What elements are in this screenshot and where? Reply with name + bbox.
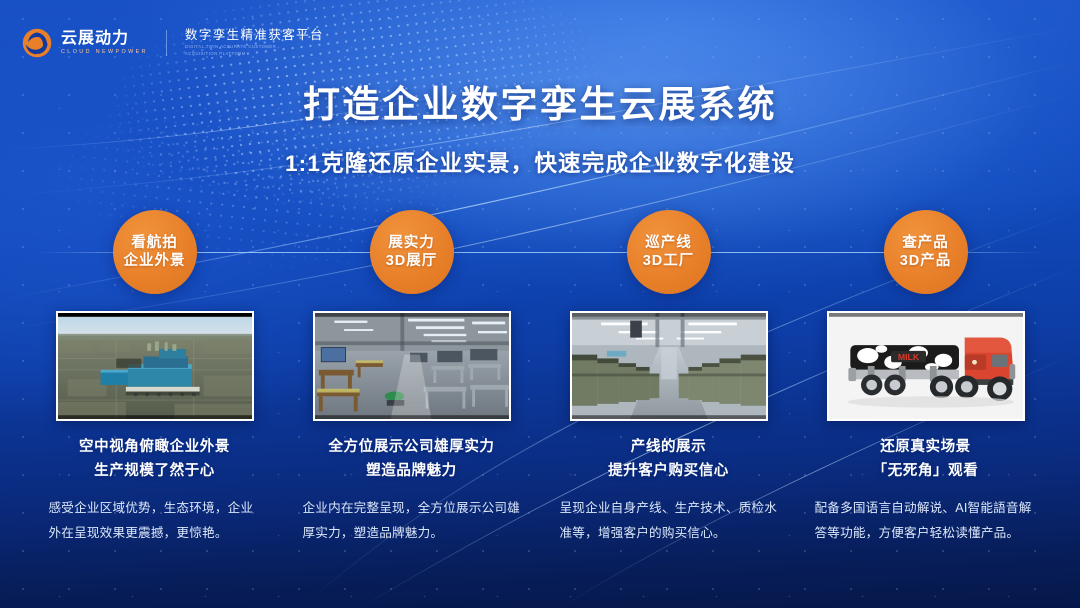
heading-line-2: 提升客户购买信心 — [608, 464, 729, 479]
brand-logo-bar[interactable]: 云展动力 CLOUD NEWPOWER 数字孪生精准获客平台 DIGITAL T… — [22, 28, 324, 58]
badge-line-1: 看航拍 — [131, 236, 178, 251]
aerial-factory-thumbnail[interactable] — [56, 311, 254, 421]
brand-tagline-group: 数字孪生精准获客平台 DIGITAL TWIN ACCURATE CUSTOME… — [185, 29, 324, 57]
badge-line-2: 3D工厂 — [643, 254, 695, 269]
badge-line-2: 企业外景 — [124, 254, 186, 269]
column-body-text: 企业内在完整呈现，全方位展示公司雄厚实力，塑造品牌魅力。 — [303, 496, 521, 546]
badge-line-1: 巡产线 — [645, 236, 692, 251]
badge-production-line[interactable]: 巡产线 3D工厂 — [627, 210, 711, 294]
brand-tagline-en: DIGITAL TWIN ACCURATE CUSTOMER ACQUISITI… — [185, 44, 303, 57]
slide-canvas: 云展动力 CLOUD NEWPOWER 数字孪生精准获客平台 DIGITAL T… — [0, 0, 1080, 608]
heading-line-1: 全方位展示公司雄厚实力 — [328, 440, 494, 455]
column-heading: 还原真实场景 「无死角」观看 — [873, 440, 979, 478]
logo-divider — [166, 30, 167, 56]
page-subtitle: 1:1克隆还原企业实景，快速完成企业数字化建设 — [0, 146, 1080, 178]
column-heading: 全方位展示公司雄厚实力 塑造品牌魅力 — [328, 440, 494, 478]
showroom-interior-thumbnail[interactable] — [313, 311, 511, 421]
heading-line-2: 生产规模了然于心 — [79, 464, 230, 479]
page-title-reflection: 打造企业数字孪生云展系统 — [0, 123, 1080, 134]
column-heading: 空中视角俯瞰企业外景 生产规模了然于心 — [79, 440, 230, 478]
production-line-thumbnail[interactable] — [570, 311, 768, 421]
column-heading: 产线的展示 提升客户购买信心 — [608, 440, 729, 478]
brand-name-en: CLOUD NEWPOWER — [61, 50, 148, 55]
heading-line-1: 产线的展示 — [608, 440, 729, 455]
badge-line-1: 展实力 — [388, 236, 435, 251]
heading-line-2: 塑造品牌魅力 — [328, 464, 494, 479]
svg-text:MILK: MILK — [897, 352, 919, 362]
column-body-text: 感受企业区域优势，生态环境，企业外在呈现效果更震撼，更惊艳。 — [49, 496, 261, 546]
badge-line-1: 查产品 — [902, 236, 949, 251]
swirl-logo-icon — [22, 28, 52, 58]
product-truck-thumbnail[interactable]: MILK — [827, 311, 1025, 421]
brand-name-group: 云展动力 CLOUD NEWPOWER — [61, 31, 148, 55]
badge-aerial[interactable]: 看航拍 企业外景 — [113, 210, 197, 294]
badge-showroom[interactable]: 展实力 3D展厅 — [370, 210, 454, 294]
badge-product[interactable]: 查产品 3D产品 — [884, 210, 968, 294]
column-body-text: 呈现企业自身产线、生产技术、质检水准等，增强客户的购买信心。 — [560, 496, 778, 546]
heading-line-1: 空中视角俯瞰企业外景 — [79, 440, 230, 455]
heading-line-1: 还原真实场景 — [873, 440, 979, 455]
brand-tagline-cn: 数字孪生精准获客平台 — [185, 29, 324, 42]
page-title: 打造企业数字孪生云展系统 — [0, 74, 1080, 128]
badge-line-2: 3D展厅 — [386, 254, 438, 269]
heading-line-2: 「无死角」观看 — [873, 464, 979, 479]
brand-name-cn: 云展动力 — [61, 31, 148, 47]
badge-line-2: 3D产品 — [900, 254, 952, 269]
title-block: 打造企业数字孪生云展系统 打造企业数字孪生云展系统 1:1克隆还原企业实景，快速… — [0, 74, 1080, 178]
column-body-text: 配备多国语言自动解说、AI智能語音解答等功能，方便客户轻松读懂产品。 — [815, 496, 1037, 546]
